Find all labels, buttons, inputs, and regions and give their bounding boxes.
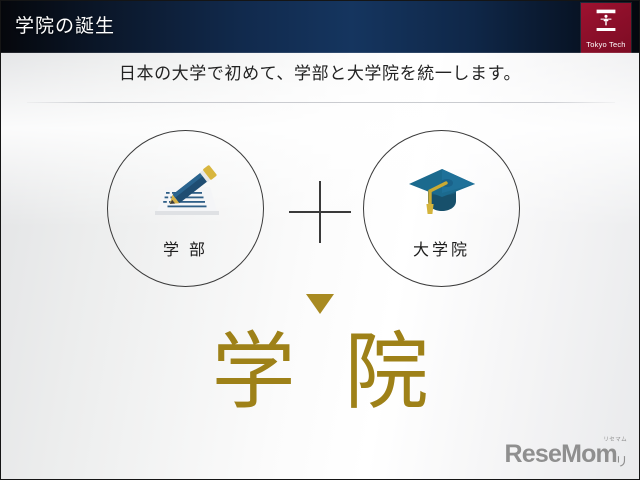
- result-word: 学 院: [1, 319, 639, 429]
- tokyo-tech-logo: Tokyo Tech: [581, 3, 631, 53]
- concept-circle-undergraduate: 学 部: [107, 130, 264, 287]
- graduation-cap-icon: [403, 157, 481, 223]
- concept-circle-graduate: 大学院: [363, 130, 520, 287]
- watermark-kanji: リ: [615, 455, 628, 469]
- arrow-down-icon: [306, 294, 334, 314]
- concept-circle-label: 学 部: [108, 236, 263, 260]
- slide-title-bar: 学院の誕生 Tokyo Tech: [1, 1, 639, 53]
- concept-circle-label: 大学院: [364, 236, 519, 260]
- slide-title: 学院の誕生: [15, 13, 115, 41]
- plus-vertical-bar: [319, 181, 321, 243]
- watermark-brand: ReseMom: [505, 442, 618, 467]
- slide-subtitle: 日本の大学で初めて、学部と大学院を統一します。: [1, 61, 639, 87]
- tokyo-tech-logo-name: Tokyo Tech: [581, 40, 631, 49]
- pencil-writing-on-paper-icon: [147, 157, 225, 223]
- resemom-watermark: ReseMom リセマム リ: [499, 437, 629, 471]
- tokyo-tech-emblem-icon: [594, 8, 618, 32]
- subtitle-divider: [27, 102, 615, 103]
- plus-symbol-icon: [289, 181, 351, 243]
- watermark-ruby: リセマム: [603, 437, 627, 444]
- presentation-slide: 学院の誕生 Tokyo Tech 日本の大学で初めて、学部と大学院を統一します。: [0, 0, 640, 480]
